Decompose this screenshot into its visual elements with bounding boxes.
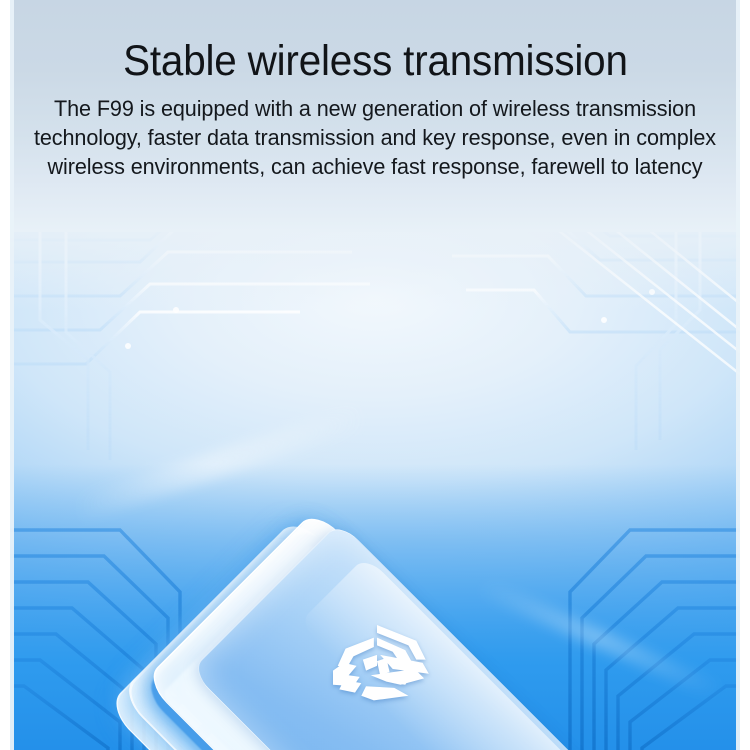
- product-photo: [0, 200, 750, 750]
- header-description: The F99 is equipped with a new generatio…: [27, 94, 722, 181]
- page-title: Stable wireless transmission: [123, 36, 628, 86]
- product-feature-poster: Stable wireless transmission The F99 is …: [0, 0, 750, 750]
- header-content: Stable wireless transmission The F99 is …: [10, 0, 740, 232]
- brand-logo-svg: [297, 614, 457, 724]
- header-band: Stable wireless transmission The F99 is …: [0, 0, 750, 232]
- aula-shield-emblem-logo-icon: [297, 614, 457, 724]
